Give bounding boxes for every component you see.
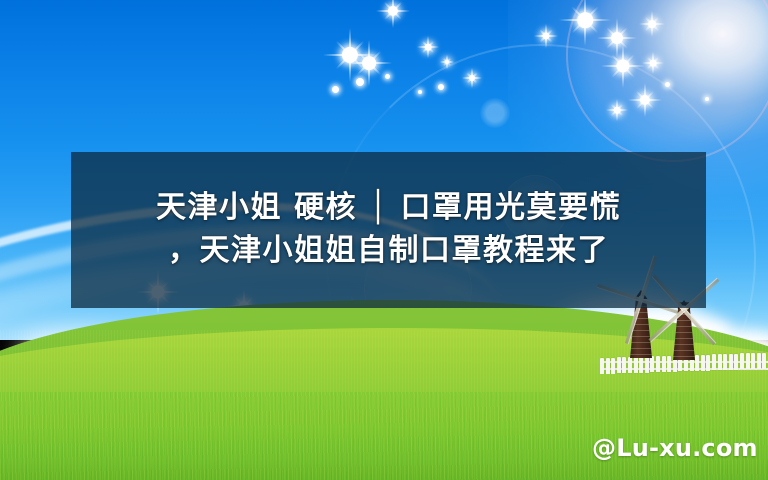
title-banner: 天津小姐 硬核 │ 口罩用光莫要慌 ，天津小姐姐自制口罩教程来了 — [71, 152, 706, 308]
sparkle-dot — [356, 78, 364, 86]
sparkle-dot — [665, 82, 670, 87]
title-line-2: ，天津小姐姐自制口罩教程来了 — [168, 230, 609, 273]
fence-picket — [634, 357, 638, 373]
fence-picket — [746, 353, 750, 369]
sparkle-dot — [705, 97, 709, 101]
fence-picket — [723, 354, 727, 370]
lens-flare-bubble — [480, 98, 510, 128]
fence-picket — [729, 354, 733, 370]
fence-picket — [611, 358, 615, 374]
fence-picket — [622, 357, 626, 373]
fence-picket — [628, 357, 632, 373]
banner-image: 天津小姐 硬核 │ 口罩用光莫要慌 ，天津小姐姐自制口罩教程来了 @Lu-xu.… — [0, 0, 768, 480]
fence-picket — [757, 353, 761, 369]
fence-picket — [762, 353, 766, 369]
fence-picket — [639, 357, 643, 373]
fence-picket — [740, 353, 744, 369]
windmill-icon — [652, 306, 716, 360]
fence-picket — [751, 353, 755, 369]
fence-picket — [600, 358, 604, 374]
watermark-text: @Lu-xu.com — [592, 434, 758, 462]
fence-picket — [718, 354, 722, 370]
sparkle-dot — [332, 86, 339, 93]
sparkle-dot — [385, 74, 390, 79]
sparkle-dot — [438, 84, 444, 90]
fence-picket — [734, 354, 738, 370]
sparkle-dot — [418, 90, 422, 94]
fence-picket — [617, 357, 621, 373]
fence-picket — [606, 358, 610, 374]
fence-picket — [645, 357, 649, 373]
title-line-1: 天津小姐 硬核 │ 口罩用光莫要慌 — [156, 187, 621, 230]
